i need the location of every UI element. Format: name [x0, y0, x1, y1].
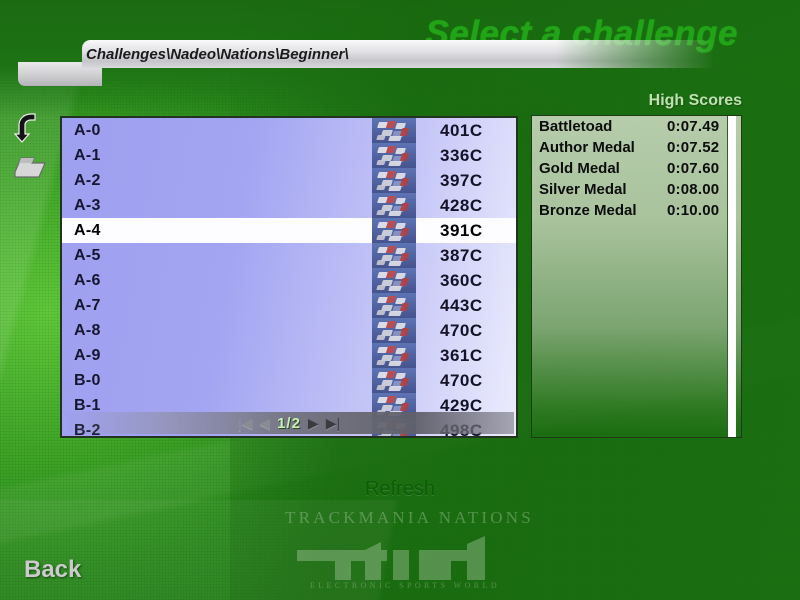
list-item: Silver Medal0:08.00: [532, 179, 741, 200]
challenge-score: 397C: [416, 171, 516, 191]
high-scores-title: High Scores: [649, 92, 742, 110]
checkered-flag-icon: [372, 168, 416, 193]
checkered-flag-icon: [372, 343, 416, 368]
table-row[interactable]: A-7443C: [62, 293, 516, 318]
high-score-time: 0:07.49: [667, 118, 735, 135]
table-row[interactable]: A-4391C: [62, 218, 516, 243]
challenge-name: A-0: [62, 122, 372, 140]
high-score-name: Battletoad: [539, 118, 667, 135]
table-row[interactable]: B-0470C: [62, 368, 516, 393]
checkered-flag-icon: [372, 218, 416, 243]
challenge-score: 360C: [416, 271, 516, 291]
pager-page-indicator: 1/2: [277, 415, 301, 432]
table-row[interactable]: A-9361C: [62, 343, 516, 368]
challenge-rows: A-0401CA-1336CA-2397CA-3428CA-4391CA-538…: [62, 118, 516, 438]
high-scores-rows: Battletoad0:07.49Author Medal0:07.52Gold…: [532, 116, 741, 221]
table-row[interactable]: A-2397C: [62, 168, 516, 193]
up-arrow-icon[interactable]: [14, 112, 48, 144]
pager-prev-button[interactable]: ◀: [259, 416, 270, 430]
challenge-score: 428C: [416, 196, 516, 216]
checkered-flag-icon: [372, 268, 416, 293]
table-row[interactable]: A-8470C: [62, 318, 516, 343]
checkered-flag-icon: [372, 293, 416, 318]
back-button[interactable]: Back: [24, 556, 81, 584]
challenge-name: A-4: [62, 222, 372, 240]
high-score-time: 0:10.00: [667, 202, 735, 219]
table-row[interactable]: A-3428C: [62, 193, 516, 218]
high-score-time: 0:07.60: [667, 160, 735, 177]
checkered-flag-icon: [372, 318, 416, 343]
pager-last-button[interactable]: ▶|: [326, 416, 340, 430]
challenge-score: 470C: [416, 371, 516, 391]
challenge-name: A-2: [62, 172, 372, 190]
checkered-flag-icon: [372, 193, 416, 218]
high-score-time: 0:08.00: [667, 181, 735, 198]
trackmania-logo: TRACKMANIA NATIONS ELECTRONIC SPORTS WOR…: [285, 508, 525, 590]
table-row[interactable]: A-1336C: [62, 143, 516, 168]
challenge-score: 443C: [416, 296, 516, 316]
high-score-name: Silver Medal: [539, 181, 667, 198]
checkered-flag-icon: [372, 118, 416, 143]
challenge-name: A-6: [62, 272, 372, 290]
logo-band: [0, 500, 800, 600]
high-scores-scrollbar[interactable]: [727, 116, 736, 437]
checkered-flag-icon: [372, 243, 416, 268]
pager-next-button[interactable]: ▶: [308, 416, 319, 430]
pagination-bar[interactable]: |◀ ◀ 1/2 ▶ ▶|: [64, 412, 514, 434]
challenge-score: 361C: [416, 346, 516, 366]
challenge-score: 391C: [416, 221, 516, 241]
list-item: Battletoad0:07.49: [532, 116, 741, 137]
tmn-logo-mark: [295, 530, 515, 582]
refresh-button[interactable]: Refresh: [0, 478, 800, 501]
challenge-name: A-1: [62, 147, 372, 165]
high-score-name: Author Medal: [539, 139, 667, 156]
table-row[interactable]: A-5387C: [62, 243, 516, 268]
list-item: Bronze Medal0:10.00: [532, 200, 741, 221]
challenge-score: 336C: [416, 146, 516, 166]
challenge-score: 387C: [416, 246, 516, 266]
challenge-score: 401C: [416, 121, 516, 141]
challenge-score: 470C: [416, 321, 516, 341]
checkered-flag-icon: [372, 143, 416, 168]
high-scores-panel: Battletoad0:07.49Author Medal0:07.52Gold…: [531, 115, 742, 438]
challenge-name: A-5: [62, 247, 372, 265]
high-score-name: Gold Medal: [539, 160, 667, 177]
challenge-name: A-7: [62, 297, 372, 315]
folder-icon[interactable]: [12, 152, 46, 184]
challenge-name: A-8: [62, 322, 372, 340]
high-score-name: Bronze Medal: [539, 202, 667, 219]
challenge-name: A-9: [62, 347, 372, 365]
challenge-list[interactable]: A-0401CA-1336CA-2397CA-3428CA-4391CA-538…: [60, 116, 518, 438]
table-row[interactable]: A-6360C: [62, 268, 516, 293]
list-item: Gold Medal0:07.60: [532, 158, 741, 179]
checkered-flag-icon: [372, 368, 416, 393]
challenge-name: A-3: [62, 197, 372, 215]
pager-first-button[interactable]: |◀: [238, 416, 252, 430]
high-score-time: 0:07.52: [667, 139, 735, 156]
table-row[interactable]: A-0401C: [62, 118, 516, 143]
logo-top-text: TRACKMANIA NATIONS: [285, 508, 525, 528]
list-item: Author Medal0:07.52: [532, 137, 741, 158]
breadcrumb[interactable]: Challenges\Nadeo\Nations\Beginner\: [86, 46, 349, 63]
logo-bottom-text: ELECTRONIC SPORTS WORLD: [285, 581, 525, 590]
game-screen: Select a challenge Challenges\Nadeo\Nati…: [0, 0, 800, 600]
challenge-name: B-0: [62, 372, 372, 390]
